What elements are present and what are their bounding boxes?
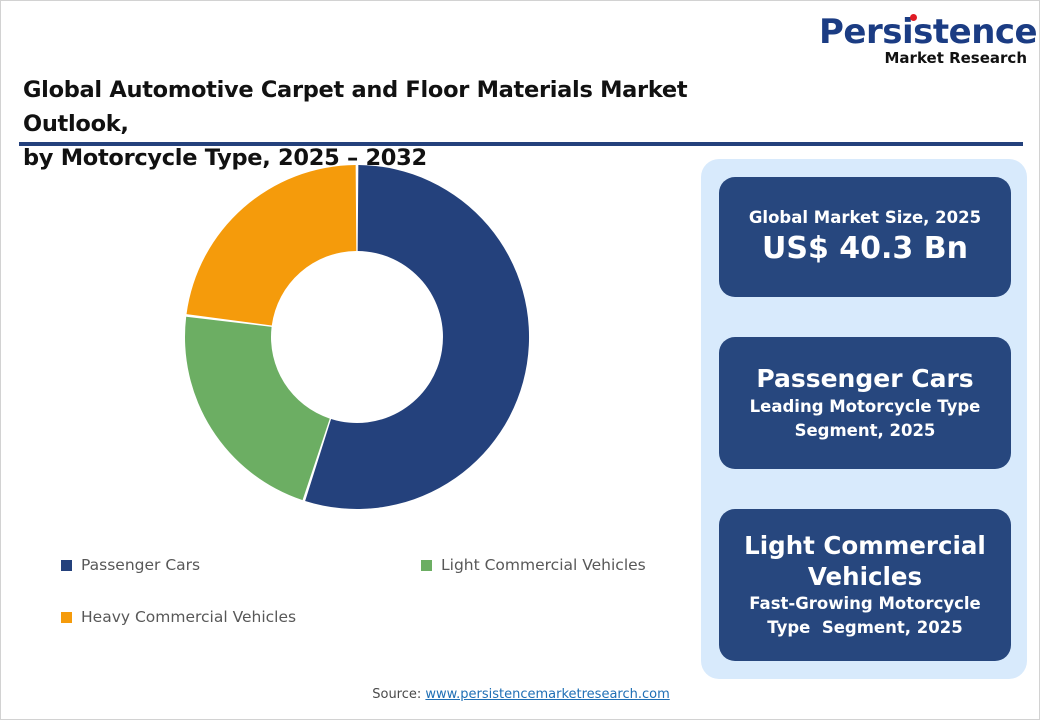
source-url-link[interactable]: www.persistencemarketresearch.com: [425, 687, 669, 702]
legend-item-light-commercial-vehicles[interactable]: Light Commercial Vehicles: [421, 556, 646, 574]
logo-red-dot-icon: [910, 14, 917, 21]
page-title-line-1: Global Automotive Carpet and Floor Mater…: [23, 73, 723, 141]
source-prefix-label: Source:: [372, 687, 425, 702]
brand-logo-subtitle: Market Research: [819, 50, 1027, 67]
chart-legend: Passenger Cars Light Commercial Vehicles…: [61, 556, 681, 660]
donut-slice-light-commercial-vehicles[interactable]: [185, 317, 330, 500]
infographic-canvas: Persistence Market Research Global Autom…: [0, 0, 1040, 720]
kpi-card-leading-segment-sub: Leading Motorcycle Type Segment, 2025: [750, 395, 981, 443]
kpi-card-market-size-value: US$ 40.3 Bn: [762, 230, 968, 268]
kpi-card-market-size: Global Market Size, 2025 US$ 40.3 Bn: [719, 177, 1011, 297]
legend-item-heavy-commercial-vehicles[interactable]: Heavy Commercial Vehicles: [61, 608, 421, 626]
brand-logo-wordmark: Persistence: [819, 15, 1037, 49]
kpi-panel: Global Market Size, 2025 US$ 40.3 Bn Pas…: [701, 159, 1027, 679]
brand-logo: Persistence Market Research: [819, 15, 1027, 69]
legend-row-2: Heavy Commercial Vehicles: [61, 608, 681, 660]
brand-logo-word-text: Persistence: [819, 12, 1037, 52]
source-line: Source: www.persistencemarketresearch.co…: [1, 687, 1040, 702]
legend-label-light-commercial-vehicles: Light Commercial Vehicles: [441, 556, 646, 574]
legend-swatch-icon-heavy-commercial-vehicles: [61, 612, 72, 623]
legend-label-heavy-commercial-vehicles: Heavy Commercial Vehicles: [81, 608, 296, 626]
kpi-card-market-size-caption: Global Market Size, 2025: [749, 206, 981, 230]
legend-row-1: Passenger Cars Light Commercial Vehicles: [61, 556, 681, 608]
kpi-card-fast-growing-segment: Light Commercial Vehicles Fast-Growing M…: [719, 509, 1011, 661]
kpi-card-fast-growing-segment-sub: Fast-Growing Motorcycle Type Segment, 20…: [749, 592, 981, 640]
chart-region: [19, 156, 687, 556]
legend-label-passenger-cars: Passenger Cars: [81, 556, 200, 574]
kpi-card-leading-segment: Passenger Cars Leading Motorcycle Type S…: [719, 337, 1011, 469]
donut-chart: [181, 161, 533, 513]
donut-slice-group: [185, 165, 529, 509]
legend-item-passenger-cars[interactable]: Passenger Cars: [61, 556, 421, 574]
legend-swatch-icon-passenger-cars: [61, 560, 72, 571]
kpi-card-fast-growing-segment-headline: Light Commercial Vehicles: [740, 530, 990, 592]
title-divider: [19, 142, 1023, 146]
kpi-card-leading-segment-headline: Passenger Cars: [756, 363, 973, 395]
legend-swatch-icon-light-commercial-vehicles: [421, 560, 432, 571]
donut-slice-heavy-commercial-vehicles[interactable]: [187, 165, 357, 326]
